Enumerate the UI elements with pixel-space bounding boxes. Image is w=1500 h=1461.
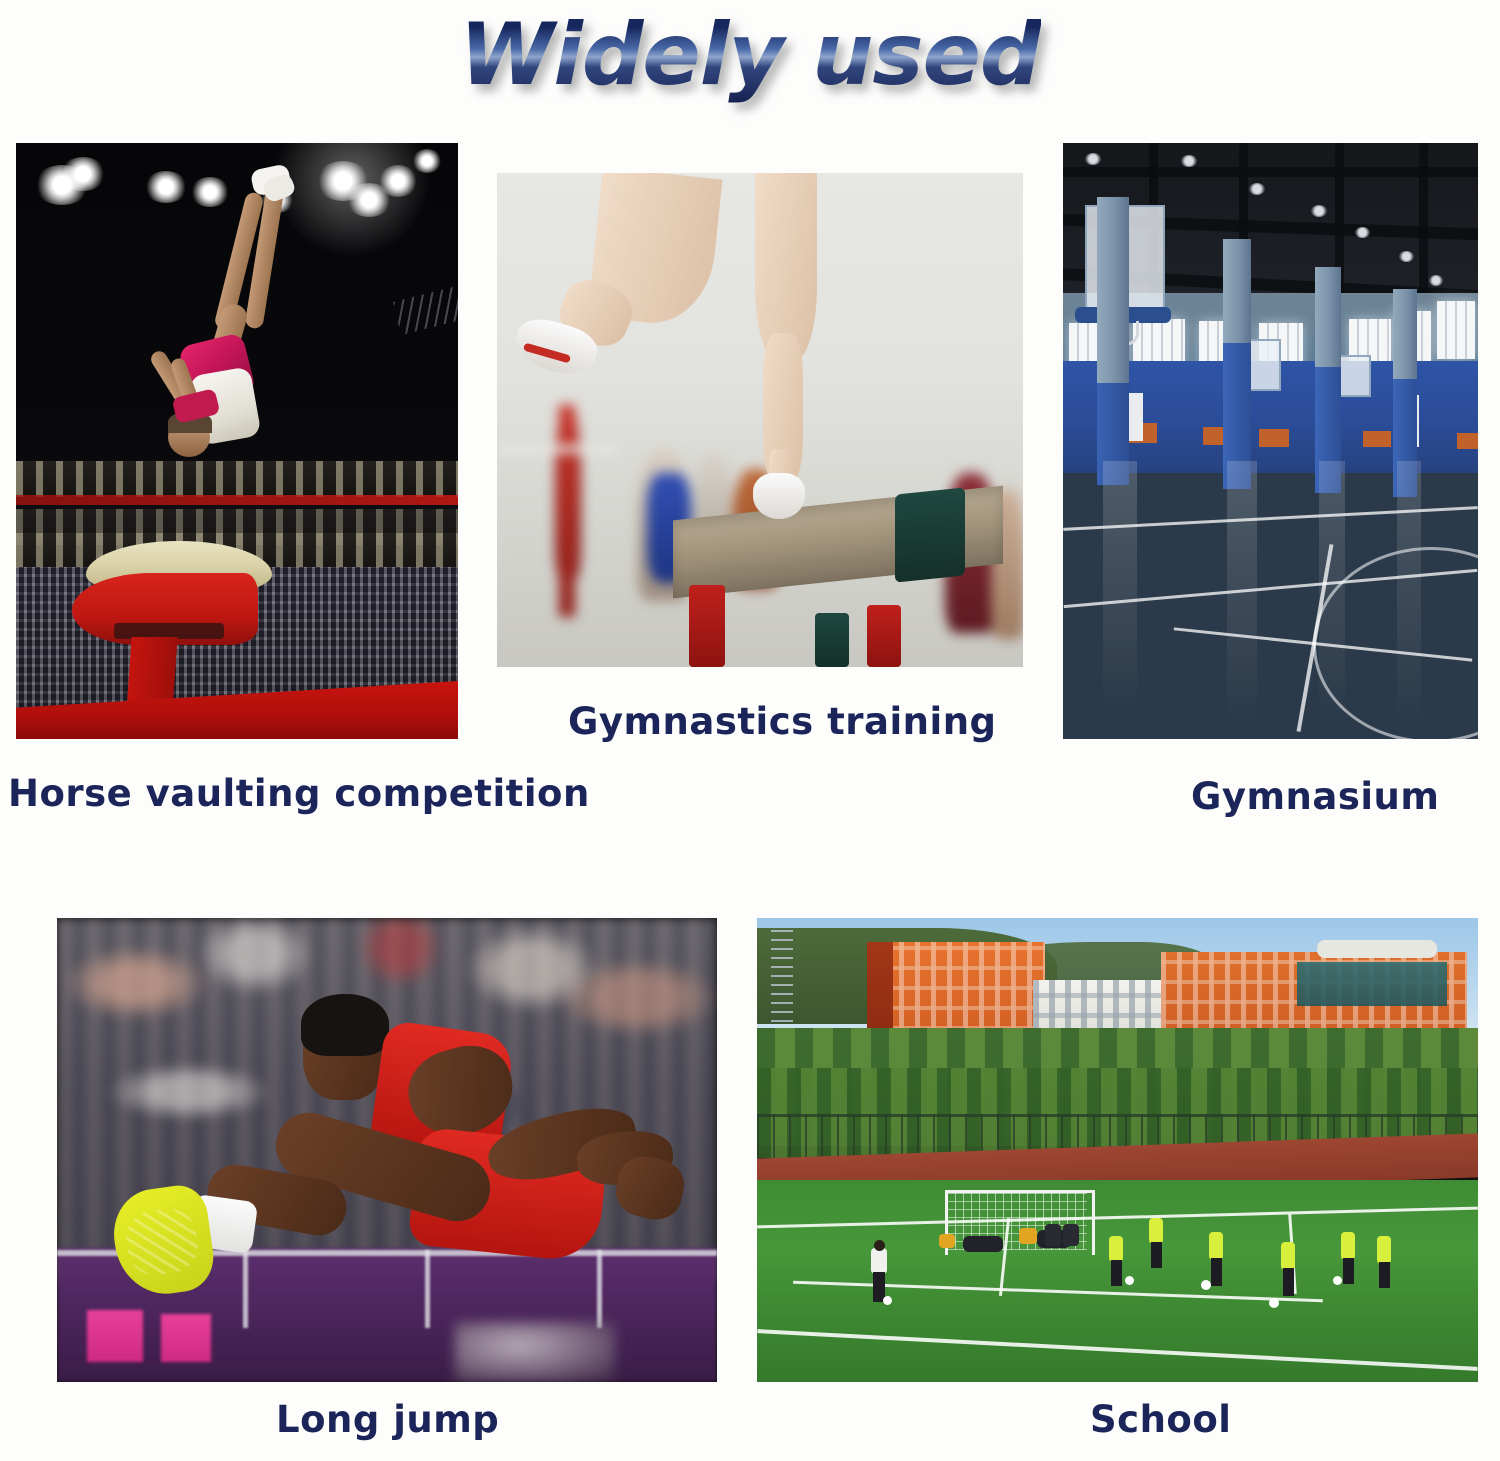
photo-gymnasium [1063, 143, 1478, 739]
photo-gymnastics-training [497, 173, 1023, 667]
page-title: Widely used [459, 5, 1040, 105]
infographic-page: Widely used [0, 0, 1500, 1461]
caption-gymnasium: Gymnasium [1191, 775, 1439, 818]
caption-horse-vaulting: Horse vaulting competition [8, 772, 590, 815]
caption-school: School [1090, 1398, 1231, 1441]
photo-horse-vaulting [16, 143, 458, 739]
caption-long-jump: Long jump [276, 1398, 499, 1441]
photo-school [757, 918, 1478, 1382]
page-title-container: Widely used [0, 0, 1500, 110]
photo-long-jump [57, 918, 717, 1382]
caption-gymnastics-training: Gymnastics training [568, 700, 997, 743]
